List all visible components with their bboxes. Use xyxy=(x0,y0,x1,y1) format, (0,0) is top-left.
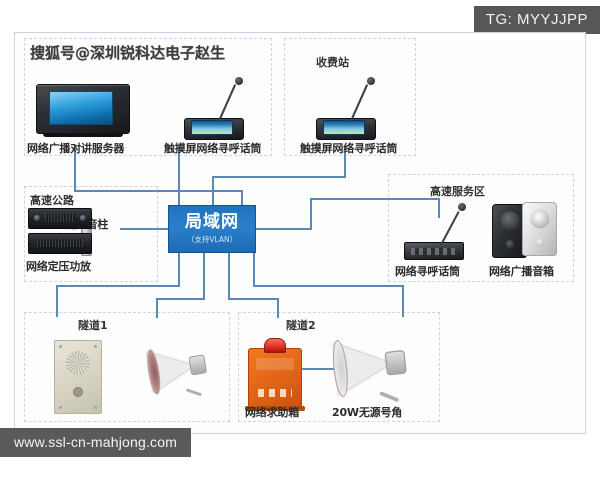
device-touchscreen-paging-mic-1[interactable] xyxy=(184,78,254,140)
link-tunnel-branch-b-horiz xyxy=(156,298,204,300)
speaker-tweeter-icon xyxy=(505,240,514,249)
amp-vent-icon xyxy=(45,214,75,222)
link-tunnel-branch-c-vert xyxy=(228,252,230,300)
zone-title-toll-station: 收费站 xyxy=(316,54,349,70)
device-network-paging-mic[interactable] xyxy=(404,200,474,260)
mic-capsule-icon xyxy=(367,77,375,85)
link-server-horizontal xyxy=(74,190,242,192)
help-box-icon xyxy=(248,348,302,408)
diagram-stage: TG: MYYJJPP 搜狐号@深圳锐科达电子赵生 收费站 高速公路 高速服务区… xyxy=(0,0,600,480)
mic-gooseneck-icon xyxy=(440,211,460,246)
label-network-broadcast-speaker: 网络广播音箱 xyxy=(489,263,554,279)
label-network-paging-mic: 网络寻呼话筒 xyxy=(395,263,460,279)
link-tunnel2-helpbox-drop xyxy=(277,298,279,318)
device-passive-horn-20w[interactable] xyxy=(333,337,393,395)
device-tunnel-intercom-panel[interactable] xyxy=(54,340,102,414)
device-broadcast-intercom-server[interactable] xyxy=(36,84,130,134)
site-watermark-badge: www.ssl-cn-mahjong.com xyxy=(0,428,191,457)
amplifier-unit-top-icon xyxy=(28,208,92,229)
link-mic2-horizontal xyxy=(212,176,346,178)
amp-vent-icon xyxy=(37,239,83,247)
telegram-watermark-badge: TG: MYYJJPP xyxy=(474,6,600,34)
label-broadcast-intercom-server: 网络广播对讲服务器 xyxy=(27,140,124,156)
link-tunnel-branch-d-vert xyxy=(253,252,255,286)
mic-gooseneck-icon xyxy=(218,84,236,121)
speaker-tweeter-icon xyxy=(535,238,544,247)
label-passive-horn-20w: 20W无源号角 xyxy=(332,404,402,420)
zone-title-tunnel-1: 隧道1 xyxy=(78,317,108,333)
link-tunnel1-horn-drop xyxy=(156,298,158,318)
intercom-panel-icon xyxy=(54,340,102,414)
label-touchscreen-paging-mic-2: 触摸屏网络寻呼话筒 xyxy=(300,140,397,156)
link-helpbox-horn xyxy=(300,368,334,370)
label-network-constant-voltage-amplifier: 网络定压功放 xyxy=(26,258,91,274)
link-service-riser xyxy=(310,198,312,230)
amplifier-unit-bottom-icon xyxy=(28,233,92,254)
server-chassis-icon xyxy=(36,84,130,134)
zone-title-service-area: 高速服务区 xyxy=(430,183,485,199)
mic-gooseneck-icon xyxy=(350,84,368,121)
console-keys-icon xyxy=(411,248,455,255)
zone-title-highway: 高速公路 xyxy=(30,192,74,208)
mic-screen-icon xyxy=(191,120,233,135)
speaker-cone-icon xyxy=(530,209,549,228)
link-tunnel-branch-b-vert xyxy=(203,252,205,300)
mic-screen-icon xyxy=(323,120,365,135)
link-hub-service-horizontal xyxy=(254,228,312,230)
device-touchscreen-paging-mic-2[interactable] xyxy=(316,78,386,140)
panel-call-button-icon xyxy=(73,387,83,397)
server-screen-icon xyxy=(49,91,113,125)
panel-screw-icon xyxy=(59,345,62,348)
mic-capsule-icon xyxy=(235,77,243,85)
device-network-broadcast-speaker[interactable] xyxy=(492,202,568,258)
device-network-constant-voltage-amplifier[interactable] xyxy=(28,208,92,254)
label-touchscreen-paging-mic-1: 触摸屏网络寻呼话筒 xyxy=(164,140,261,156)
link-tunnel2-horn-drop xyxy=(402,285,404,317)
mic-capsule-icon xyxy=(458,203,466,211)
link-tunnel-branch-a-horiz xyxy=(56,285,180,287)
console-base-icon xyxy=(404,242,464,260)
speaker-cone-icon xyxy=(500,211,519,230)
server-foot-icon xyxy=(43,133,123,137)
lan-hub-node[interactable]: 局域网 （支持VLAN） xyxy=(168,205,256,253)
amp-knob-icon xyxy=(34,215,40,221)
help-box-keys-icon xyxy=(258,389,292,397)
warning-beacon-icon xyxy=(264,338,286,353)
link-tunnel-branch-a-vert xyxy=(178,252,180,286)
speaker-light-icon xyxy=(522,202,557,256)
label-network-help-box: 网络求助箱 xyxy=(245,404,299,420)
device-network-help-box[interactable] xyxy=(248,348,302,408)
link-tunnel1-panel-drop xyxy=(56,285,58,317)
horn-driver-icon xyxy=(188,354,207,375)
device-tunnel-horn-speaker[interactable] xyxy=(147,345,197,393)
horn-driver-icon xyxy=(384,350,406,376)
lan-hub-subtitle: （支持VLAN） xyxy=(187,234,237,245)
link-hub-highway xyxy=(120,228,170,230)
zone-title-tunnel-2: 隧道2 xyxy=(286,317,316,333)
panel-screw-icon xyxy=(94,406,97,409)
amp-knob-icon xyxy=(80,215,86,221)
panel-screw-icon xyxy=(59,406,62,409)
panel-screw-icon xyxy=(94,345,97,348)
link-tunnel-branch-d-horiz xyxy=(253,285,403,287)
lan-hub-title: 局域网 xyxy=(185,214,239,231)
link-server-drop xyxy=(241,190,243,206)
help-box-plate-icon xyxy=(256,358,294,370)
link-tunnel-branch-c-horiz xyxy=(228,298,278,300)
link-mic2-drop xyxy=(212,176,214,206)
panel-grille-icon xyxy=(66,351,90,375)
